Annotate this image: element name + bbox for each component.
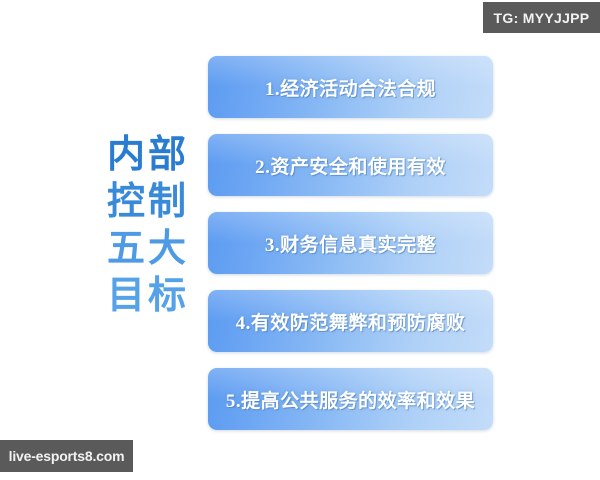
title-line-1: 内部	[96, 132, 200, 179]
goal-item-label: 1.经济活动合法合规	[265, 74, 436, 101]
goal-item-label: 4.有效防范舞弊和预防腐败	[236, 308, 466, 335]
goal-list: 1.经济活动合法合规 2.资产安全和使用有效 3.财务信息真实完整 4.有效防范…	[208, 56, 493, 430]
title-line-3: 五大	[96, 226, 200, 273]
goal-item[interactable]: 5.提高公共服务的效率和效果	[208, 368, 493, 430]
goal-item[interactable]: 3.财务信息真实完整	[208, 212, 493, 274]
title-line-2: 控制	[96, 179, 200, 226]
site-watermark-text: live-esports8.com	[9, 448, 125, 464]
goal-item-label: 2.资产安全和使用有效	[255, 152, 446, 179]
slide-canvas: 内部 控制 五大 目标 1.经济活动合法合规 2.资产安全和使用有效 3.财务信…	[0, 0, 600, 480]
goal-item-label: 5.提高公共服务的效率和效果	[226, 386, 475, 413]
goal-item-label: 3.财务信息真实完整	[265, 230, 436, 257]
page-title: 内部 控制 五大 目标	[96, 132, 200, 320]
goal-item[interactable]: 4.有效防范舞弊和预防腐败	[208, 290, 493, 352]
site-watermark-badge: live-esports8.com	[0, 440, 133, 472]
telegram-watermark-text: TG: MYYJJPP	[494, 10, 590, 26]
goal-item[interactable]: 2.资产安全和使用有效	[208, 134, 493, 196]
goal-item[interactable]: 1.经济活动合法合规	[208, 56, 493, 118]
title-line-4: 目标	[96, 273, 200, 320]
telegram-watermark-badge: TG: MYYJJPP	[483, 2, 600, 33]
